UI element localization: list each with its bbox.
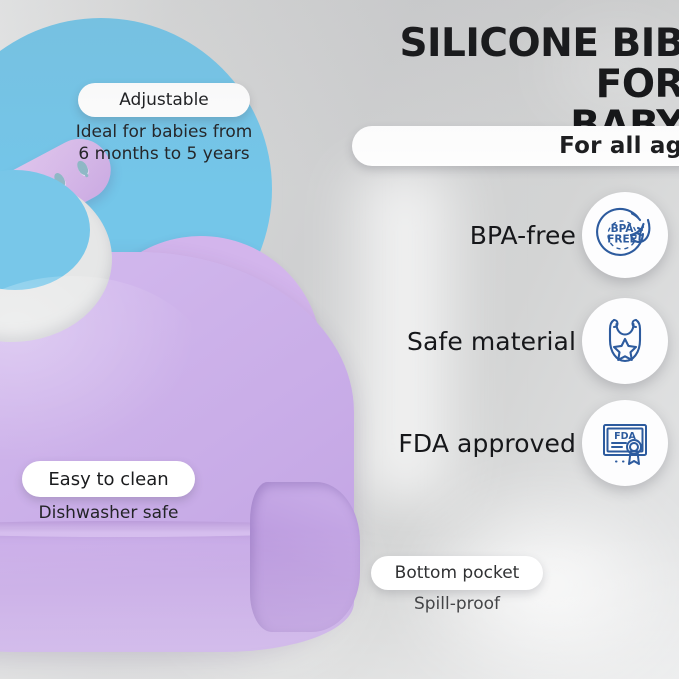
- infographic-canvas: SILICONE BIB FOR BABY For all ages Adjus…: [0, 0, 679, 679]
- background-vignette: [0, 0, 679, 679]
